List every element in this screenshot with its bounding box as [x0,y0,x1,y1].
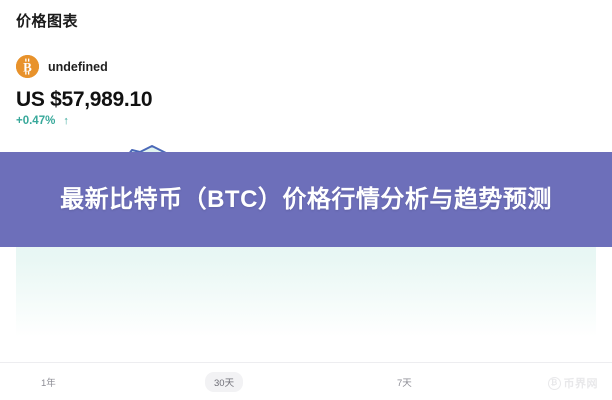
bitcoin-icon: B [16,55,39,78]
coin-name: undefined [48,60,108,74]
trend-up-arrow-icon: ↑ [63,116,69,127]
current-price: US $57,989.10 [16,88,152,112]
site-watermark: ₿ 币界网 [548,375,599,391]
page-title: 价格图表 [16,10,78,31]
article-title-banner: 最新比特币（BTC）价格行情分析与趋势预测 [0,152,612,247]
tab-7-days[interactable]: 7天 [388,372,421,392]
price-chart-screen: 价格图表 B undefined US $57,989.10 +0.47% ↑ [0,0,612,400]
timeframe-tabbar: 1年 30天 7天 [0,362,612,400]
article-title: 最新比特币（BTC）价格行情分析与趋势预测 [30,184,582,216]
bitcoin-circle-icon: ₿ [548,377,561,390]
svg-text:B: B [23,60,32,75]
price-change: +0.47% ↑ [16,115,69,127]
tab-30-days[interactable]: 30天 [205,372,243,392]
coin-row: B undefined [16,55,108,78]
watermark-label: 币界网 [564,375,599,391]
tab-1-year[interactable]: 1年 [32,372,65,392]
change-percent: +0.47% [16,115,55,127]
